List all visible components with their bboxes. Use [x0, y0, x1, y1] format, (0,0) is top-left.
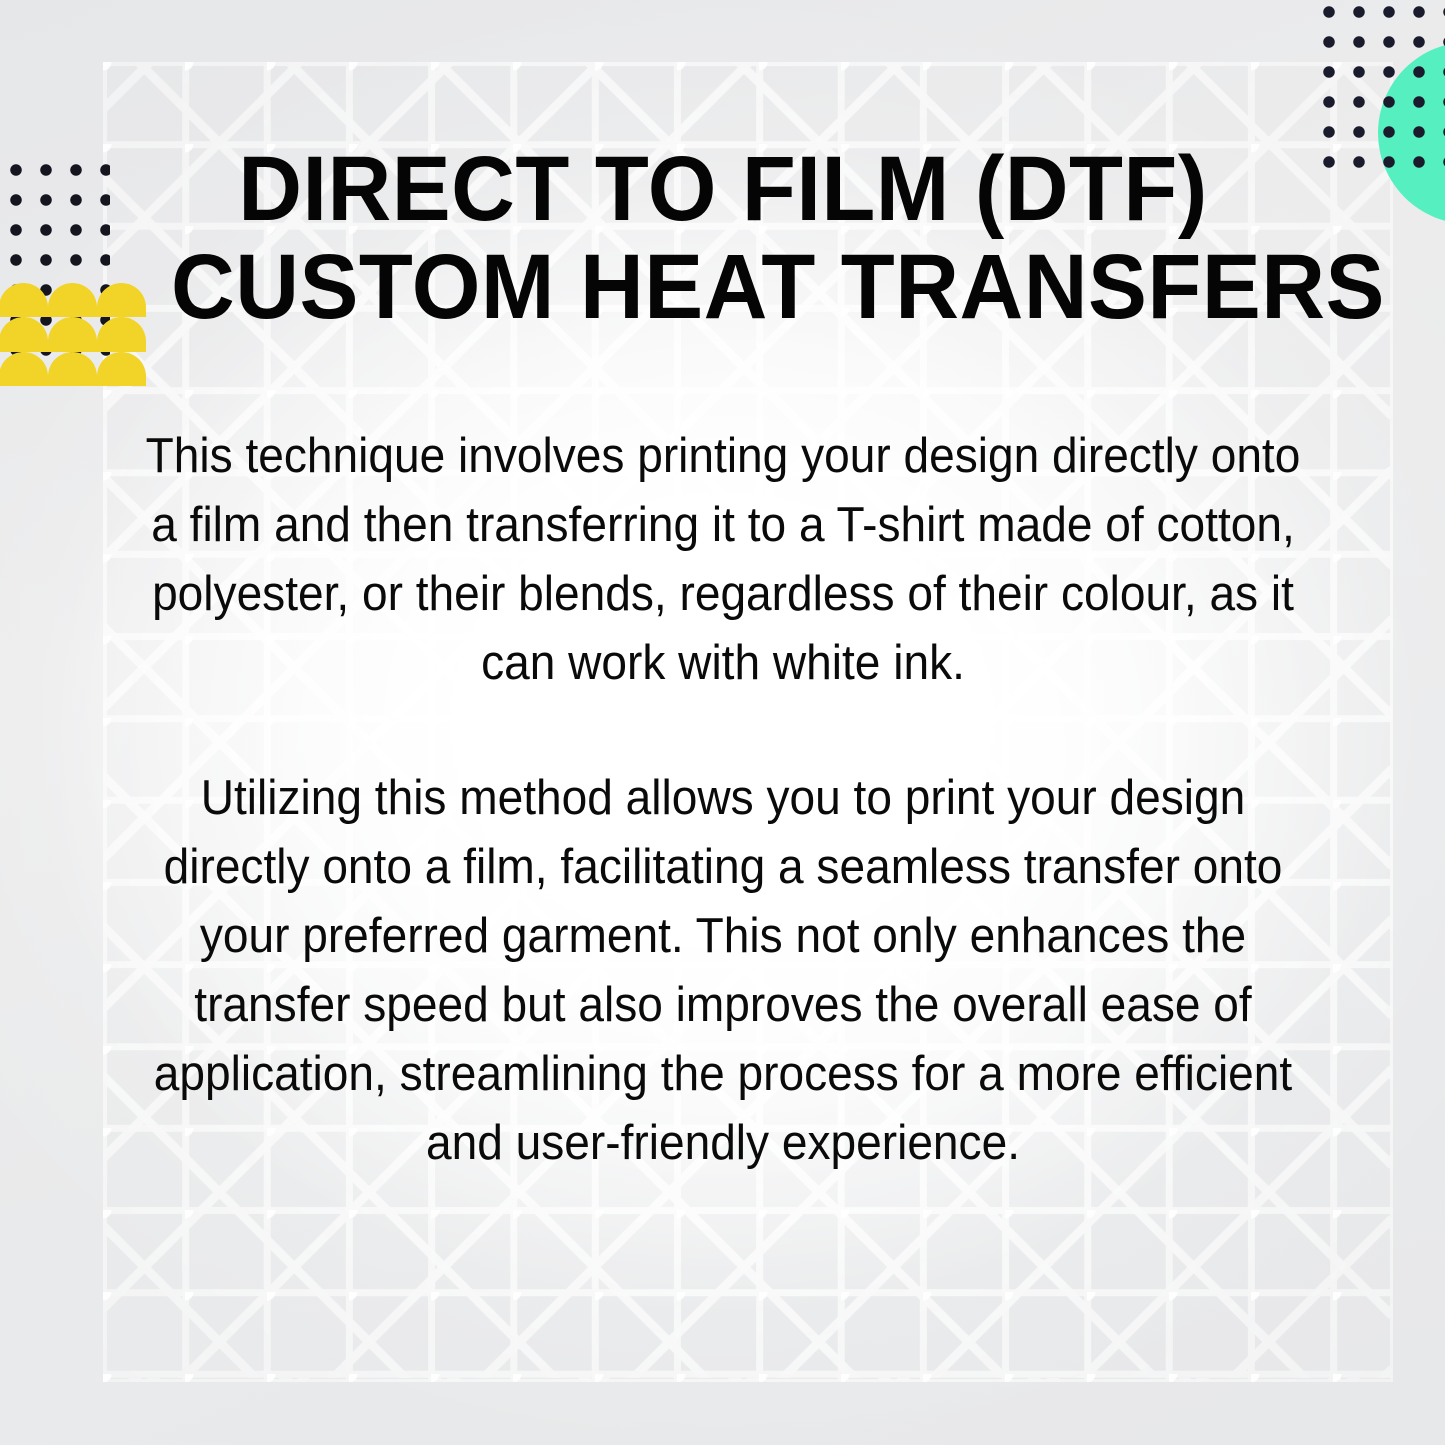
body-paragraph-1: This technique involves printing your de… — [135, 422, 1310, 698]
body-copy: This technique involves printing your de… — [135, 422, 1310, 1178]
page-title: DIRECT TO FILM (DTF) CUSTOM HEAT TRANSFE… — [171, 140, 1275, 336]
title-line-2: CUSTOM HEAT TRANSFERS — [171, 238, 1275, 336]
poster-content: DIRECT TO FILM (DTF) CUSTOM HEAT TRANSFE… — [0, 0, 1445, 1445]
body-paragraph-2: Utilizing this method allows you to prin… — [135, 764, 1310, 1178]
poster-canvas: DIRECT TO FILM (DTF) CUSTOM HEAT TRANSFE… — [0, 0, 1445, 1445]
title-line-1: DIRECT TO FILM (DTF) — [171, 140, 1275, 238]
